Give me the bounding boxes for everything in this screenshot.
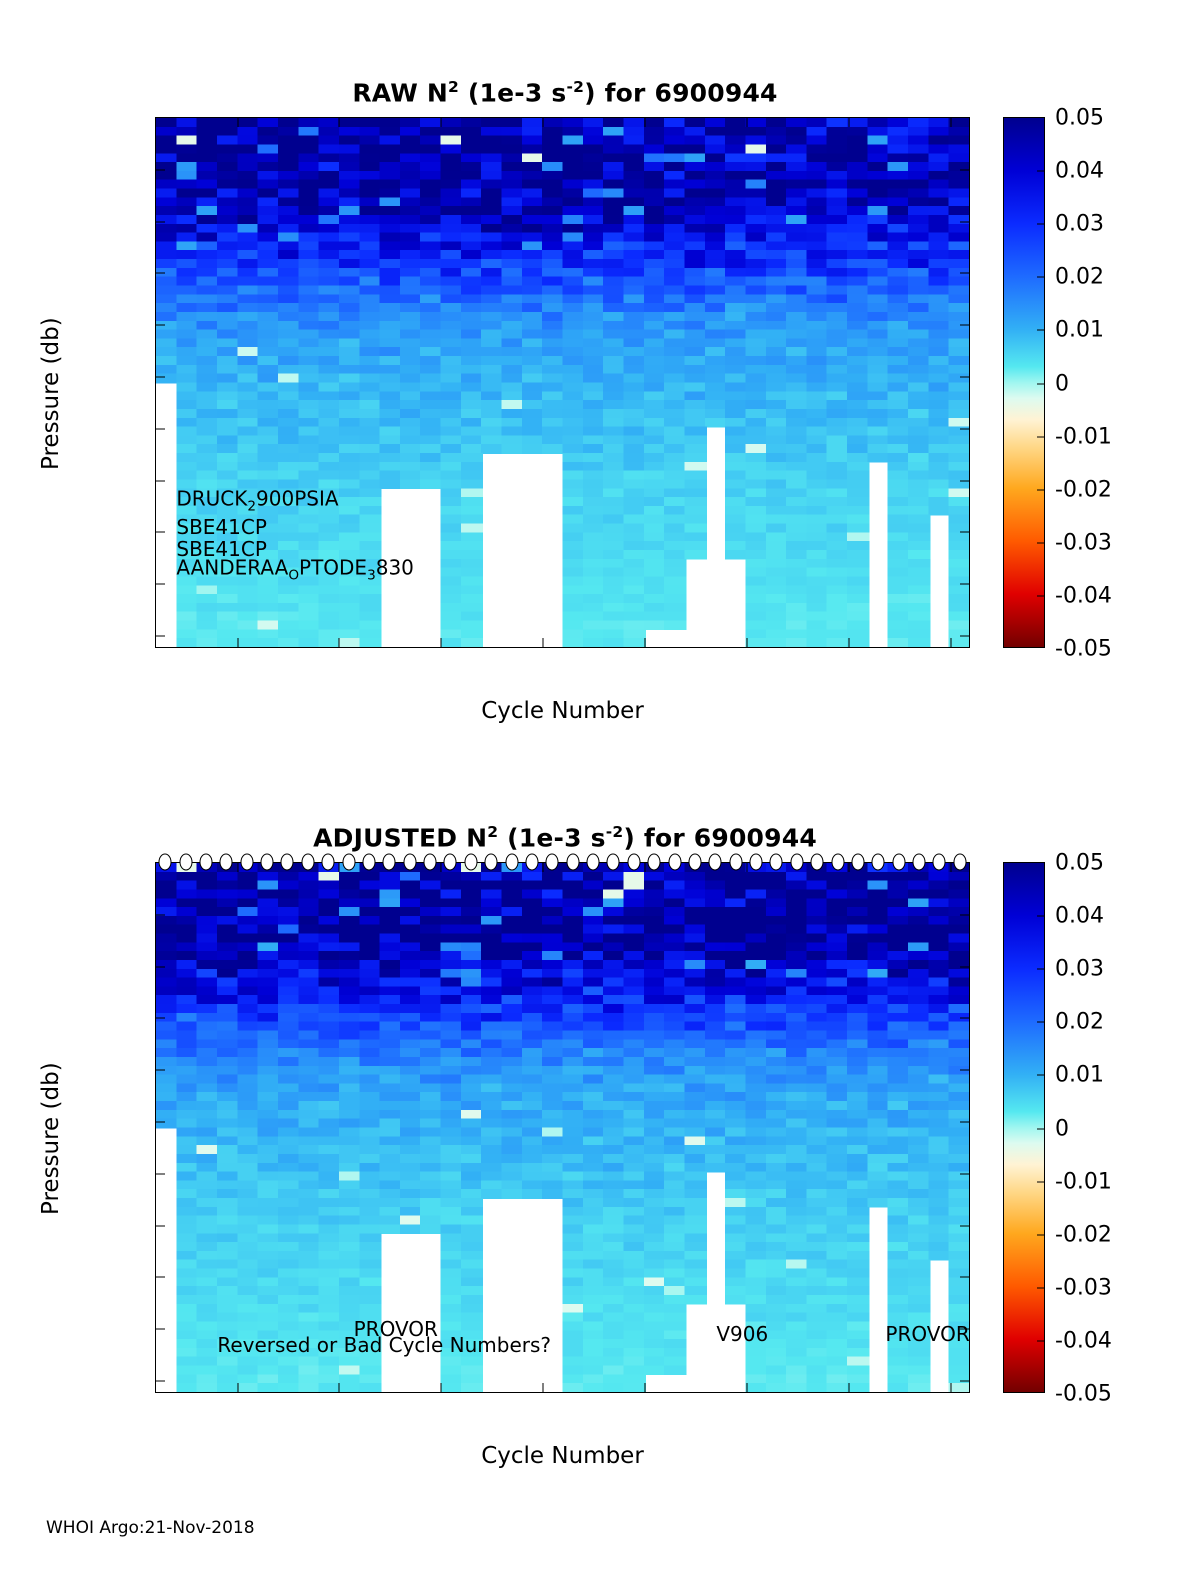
- raw-annotation-3: AANDERAAOPTODE3830: [176, 556, 414, 583]
- cycle-marker: [750, 854, 763, 871]
- colorbar-tick-label: -0.02: [1055, 477, 1112, 502]
- colorbar-tick-label: -0.01: [1055, 424, 1112, 449]
- colorbar-tick-label: -0.05: [1055, 1382, 1112, 1407]
- x-tick-mark: [848, 863, 849, 872]
- x-tick-mark: [848, 1383, 849, 1392]
- cycle-marker: [913, 854, 926, 871]
- x-tick-mark: [645, 863, 646, 872]
- y-tick-mark: [960, 480, 969, 481]
- x-tick-mark: [950, 638, 951, 647]
- y-tick-mark: [960, 966, 969, 967]
- y-tick-mark: [960, 1381, 969, 1382]
- colorbar-tick-mark: [1037, 436, 1044, 437]
- cycle-marker: [322, 854, 335, 871]
- y-tick-mark: [960, 1018, 969, 1019]
- y-tick-mark: [156, 480, 165, 481]
- cycle-marker: [607, 854, 620, 871]
- cycle-marker: [546, 854, 559, 871]
- adjusted-colorbar: 0.050.040.030.020.010-0.01-0.02-0.03-0.0…: [1003, 862, 1045, 1393]
- x-tick-mark: [441, 1383, 442, 1392]
- colorbar-tick-mark: [1037, 330, 1044, 331]
- x-tick-mark: [645, 1383, 646, 1392]
- x-tick-mark: [339, 638, 340, 647]
- x-tick-mark: [746, 118, 747, 127]
- cycle-marker: [892, 854, 905, 871]
- raw-plot-title: RAW N2 (1e-3 s-2) for 6900944: [155, 78, 975, 107]
- y-tick-mark: [156, 532, 165, 533]
- x-tick-mark: [746, 863, 747, 872]
- colorbar-tick-mark: [1037, 383, 1044, 384]
- x-tick-mark: [237, 863, 238, 872]
- x-tick-mark: [645, 118, 646, 127]
- y-tick-mark: [960, 1173, 969, 1174]
- y-tick-mark: [156, 1381, 165, 1382]
- colorbar-tick-mark: [1037, 277, 1044, 278]
- colorbar-tick-label: -0.01: [1055, 1169, 1112, 1194]
- y-tick-mark: [156, 1018, 165, 1019]
- colorbar-tick-mark: [1037, 916, 1044, 917]
- cycle-marker: [403, 854, 416, 871]
- colorbar-tick-label: -0.02: [1055, 1222, 1112, 1247]
- y-tick-mark: [156, 377, 165, 378]
- y-tick-mark: [960, 1070, 969, 1071]
- cycle-marker: [933, 854, 946, 871]
- cycle-marker: [261, 854, 274, 871]
- colorbar-tick-mark: [1037, 1075, 1044, 1076]
- y-tick-mark: [156, 1277, 165, 1278]
- colorbar-tick-mark: [1037, 1128, 1044, 1129]
- y-tick-mark: [960, 169, 969, 170]
- adjusted-annotation-2: V906: [716, 1323, 768, 1345]
- cycle-marker: [688, 854, 701, 871]
- colorbar-tick-mark: [1037, 1234, 1044, 1235]
- cycle-marker: [505, 854, 518, 871]
- colorbar-tick-label: 0.02: [1055, 1010, 1104, 1035]
- adjusted-heatmap: [156, 863, 969, 1392]
- cycle-marker: [709, 854, 722, 871]
- colorbar-tick-label: 0.04: [1055, 159, 1104, 184]
- cycle-marker: [464, 854, 477, 871]
- cycle-marker: [729, 854, 742, 871]
- colorbar-tick-mark: [1037, 171, 1044, 172]
- y-tick-mark: [960, 428, 969, 429]
- y-tick-mark: [156, 325, 165, 326]
- raw-x-axis-label: Cycle Number: [155, 698, 970, 724]
- colorbar-tick-mark: [1037, 542, 1044, 543]
- cycle-marker: [199, 854, 212, 871]
- adjusted-annotation-1: Reversed or Bad Cycle Numbers?: [217, 1334, 551, 1356]
- x-tick-mark: [950, 1383, 951, 1392]
- x-tick-mark: [746, 638, 747, 647]
- colorbar-tick-label: 0: [1055, 371, 1069, 396]
- x-tick-mark: [237, 1383, 238, 1392]
- y-tick-mark: [156, 1070, 165, 1071]
- colorbar-tick-label: 0.03: [1055, 212, 1104, 237]
- y-tick-mark: [960, 273, 969, 274]
- adjusted-x-axis-label: Cycle Number: [155, 1443, 970, 1469]
- x-tick-mark: [645, 638, 646, 647]
- y-tick-mark: [156, 1225, 165, 1226]
- colorbar-tick-mark: [1037, 489, 1044, 490]
- x-tick-mark: [543, 1383, 544, 1392]
- cycle-marker: [770, 854, 783, 871]
- x-tick-mark: [237, 118, 238, 127]
- y-tick-mark: [156, 1122, 165, 1123]
- cycle-marker: [851, 854, 864, 871]
- cycle-marker: [342, 854, 355, 871]
- cycle-marker: [281, 854, 294, 871]
- x-tick-mark: [746, 1383, 747, 1392]
- x-tick-mark: [950, 118, 951, 127]
- adjusted-annotation-3: PROVOR: [885, 1323, 969, 1345]
- x-tick-mark: [543, 118, 544, 127]
- cycle-marker: [444, 854, 457, 871]
- cycle-marker: [301, 854, 314, 871]
- y-tick-mark: [960, 914, 969, 915]
- cycle-marker: [627, 854, 640, 871]
- adjusted-heatmap-axes: 2004006008001000120014001600180020005101…: [155, 862, 970, 1393]
- cycle-marker: [485, 854, 498, 871]
- raw-annotation-1: SBE41CP: [176, 516, 267, 538]
- y-tick-mark: [156, 914, 165, 915]
- x-tick-mark: [543, 638, 544, 647]
- colorbar-tick-label: -0.04: [1055, 1328, 1112, 1353]
- colorbar-tick-label: -0.04: [1055, 583, 1112, 608]
- cycle-marker: [648, 854, 661, 871]
- cycle-marker: [383, 854, 396, 871]
- cycle-marker: [953, 854, 966, 871]
- x-tick-mark: [441, 118, 442, 127]
- colorbar-tick-mark: [1037, 969, 1044, 970]
- x-tick-mark: [339, 118, 340, 127]
- cycle-marker: [790, 854, 803, 871]
- cycle-marker: [811, 854, 824, 871]
- x-tick-mark: [237, 638, 238, 647]
- colorbar-tick-label: 0: [1055, 1116, 1069, 1141]
- colorbar-tick-label: -0.05: [1055, 637, 1112, 662]
- colorbar-tick-label: 0.03: [1055, 957, 1104, 982]
- colorbar-tick-label: 0.01: [1055, 318, 1104, 343]
- cycle-marker: [831, 854, 844, 871]
- cycle-marker: [587, 854, 600, 871]
- cycle-marker: [179, 854, 192, 871]
- y-tick-mark: [960, 377, 969, 378]
- y-tick-mark: [960, 636, 969, 637]
- cycle-marker: [424, 854, 437, 871]
- y-tick-mark: [960, 1225, 969, 1226]
- adjusted-plot-title: ADJUSTED N2 (1e-3 s-2) for 6900944: [155, 823, 975, 852]
- y-tick-mark: [156, 966, 165, 967]
- adjusted-y-axis-label: Pressure (db): [38, 1062, 64, 1215]
- cycle-marker: [159, 854, 172, 871]
- colorbar-tick-label: 0.05: [1055, 851, 1104, 876]
- colorbar-tick-mark: [1037, 1181, 1044, 1182]
- x-tick-mark: [848, 638, 849, 647]
- colorbar-tick-label: 0.05: [1055, 106, 1104, 131]
- footer-credit: WHOI Argo:21-Nov-2018: [46, 1518, 255, 1538]
- x-tick-mark: [543, 863, 544, 872]
- y-tick-mark: [960, 221, 969, 222]
- cycle-marker: [240, 854, 253, 871]
- y-tick-mark: [960, 532, 969, 533]
- y-tick-mark: [156, 1329, 165, 1330]
- x-tick-mark: [441, 638, 442, 647]
- cycle-marker: [566, 854, 579, 871]
- y-tick-mark: [960, 584, 969, 585]
- cycle-marker: [872, 854, 885, 871]
- colorbar-tick-mark: [1037, 224, 1044, 225]
- colorbar-tick-mark: [1037, 1022, 1044, 1023]
- colorbar-tick-label: 0.02: [1055, 265, 1104, 290]
- x-tick-mark: [848, 118, 849, 127]
- y-tick-mark: [156, 169, 165, 170]
- cycle-marker: [220, 854, 233, 871]
- y-tick-mark: [156, 428, 165, 429]
- y-tick-mark: [960, 325, 969, 326]
- colorbar-tick-mark: [1037, 595, 1044, 596]
- colorbar-tick-label: -0.03: [1055, 1275, 1112, 1300]
- y-tick-mark: [156, 221, 165, 222]
- raw-colorbar: 0.050.040.030.020.010-0.01-0.02-0.03-0.0…: [1003, 117, 1045, 648]
- y-tick-mark: [156, 636, 165, 637]
- cycle-marker: [525, 854, 538, 871]
- raw-y-axis-label: Pressure (db): [38, 317, 64, 470]
- raw-annotation-0: DRUCK2900PSIA: [176, 488, 338, 515]
- raw-heatmap-axes: 2004006008001000120014001600180020005101…: [155, 117, 970, 648]
- colorbar-tick-mark: [1037, 1287, 1044, 1288]
- colorbar-tick-label: 0.01: [1055, 1063, 1104, 1088]
- colorbar-tick-label: 0.04: [1055, 904, 1104, 929]
- x-tick-mark: [441, 863, 442, 872]
- y-tick-mark: [960, 1277, 969, 1278]
- cycle-marker: [668, 854, 681, 871]
- y-tick-mark: [156, 584, 165, 585]
- x-tick-mark: [339, 863, 340, 872]
- x-tick-mark: [339, 1383, 340, 1392]
- colorbar-tick-label: -0.03: [1055, 530, 1112, 555]
- y-tick-mark: [156, 1173, 165, 1174]
- cycle-marker: [362, 854, 375, 871]
- y-tick-mark: [960, 1122, 969, 1123]
- colorbar-tick-mark: [1037, 1340, 1044, 1341]
- x-tick-mark: [950, 863, 951, 872]
- y-tick-mark: [156, 273, 165, 274]
